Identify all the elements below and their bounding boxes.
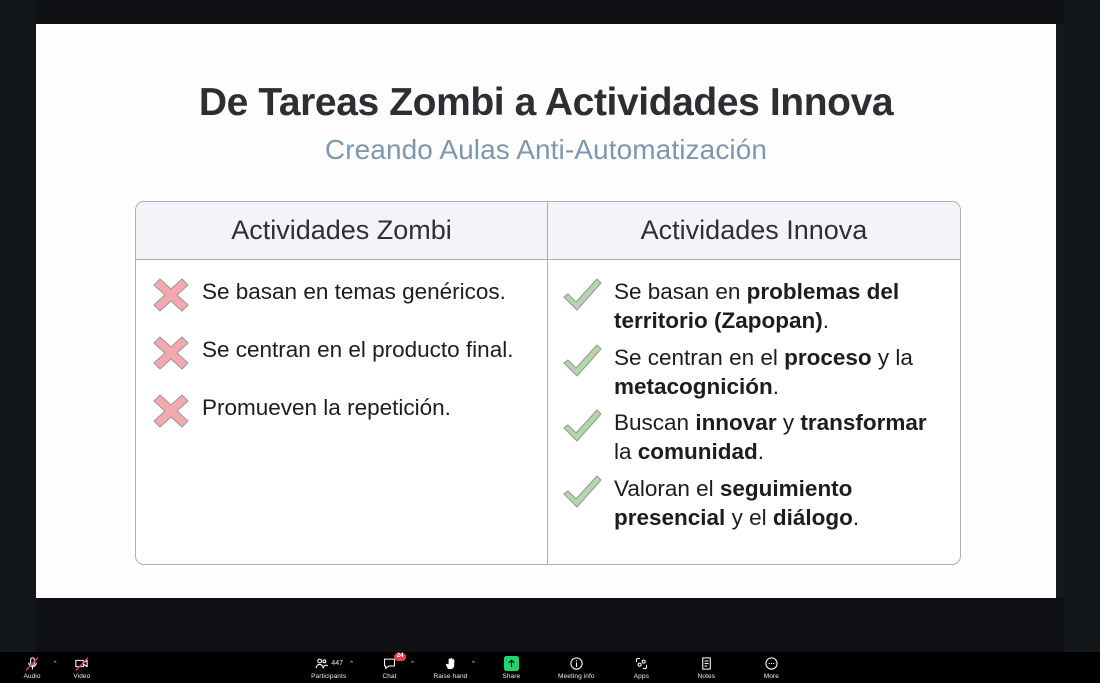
bullet-list-zombi: Se basan en temas genéricos.Se centran e… [150,274,537,428]
letterbox-top [36,0,1064,24]
toolbar-group-chat: 24Chat⌃ [364,656,412,680]
toolbar-label-meeting-info: Meeting info [558,673,595,680]
toolbar-group-more: More [745,656,797,680]
toolbar-label-chat: Chat [382,673,396,680]
notes-icon [699,656,714,672]
x-mark-icon [150,274,192,312]
toolbar-center-controls: 447Participants⌃24Chat⌃Raise hand⌃ShareM… [0,656,1100,680]
comparison-table: Actividades Zombi Actividades Innova Se … [135,201,961,565]
column-cell-zombi: Se basan en temas genéricos.Se centran e… [136,260,548,564]
toolbar-label-apps: Apps [634,673,649,680]
check-mark-icon [562,471,604,509]
slide-subtitle: Creando Aulas Anti-Automatización [36,134,1056,166]
column-header-innova: Actividades Innova [548,202,960,259]
toolbar-button-apps[interactable]: Apps [615,656,667,680]
bullet-text: Se centran en el producto final. [202,332,513,364]
chevron-up-icon-participants[interactable]: ⌃ [349,660,355,668]
bullet-item: Se centran en el proceso y la metacognic… [562,340,950,402]
toolbar-group-notes: Notes [680,656,732,680]
share-screen-icon [504,656,519,672]
toolbar-button-notes[interactable]: Notes [680,656,732,680]
toolbar-button-meeting-info[interactable]: Meeting info [550,656,602,680]
toolbar-group-apps: Apps [615,656,667,680]
bullet-item: Promueven la repetición. [150,390,537,428]
bullet-item: Se basan en problemas del territorio (Za… [562,274,950,336]
toolbar-label-participants: Participants [311,673,346,680]
toolbar-button-participants[interactable]: 447Participants [303,656,355,680]
toolbar-group-raise-hand: Raise hand⌃ [424,656,472,680]
raise-hand-icon [443,656,458,672]
column-header-zombi: Actividades Zombi [136,202,548,259]
toolbar-label-more: More [764,673,779,680]
zoom-meeting-toolbar: Audio⌃Video 447Participants⌃24Chat⌃Raise… [0,652,1100,683]
bullet-text: Se centran en el proceso y la metacognic… [614,340,950,402]
letterbox-bottom [36,598,1064,652]
toolbar-group-participants: 447Participants⌃ [303,656,351,680]
presentation-slide: De Tareas Zombi a Actividades Innova Cre… [36,24,1056,598]
check-mark-icon [562,340,604,378]
letterbox-left [0,0,36,652]
letterbox-right [1064,0,1100,652]
apps-icon [634,656,649,672]
screen-share-stage: De Tareas Zombi a Actividades Innova Cre… [0,0,1100,652]
toolbar-group-share: Share [485,656,537,680]
chat-unread-badge: 24 [394,653,406,662]
bullet-text: Se basan en temas genéricos. [202,274,506,306]
toolbar-button-more[interactable]: More [745,656,797,680]
toolbar-button-raise-hand[interactable]: Raise hand [424,656,476,680]
bullet-text: Valoran el seguimiento presencial y el d… [614,471,950,533]
x-mark-icon [150,390,192,428]
toolbar-button-chat[interactable]: 24Chat [364,656,416,680]
toolbar-label-share: Share [502,673,520,680]
bullet-text: Buscan innovar y transformar la comunida… [614,405,950,467]
toolbar-label-raise-hand: Raise hand [433,673,467,680]
bullet-text: Promueven la repetición. [202,390,451,422]
chevron-up-icon-raise-hand[interactable]: ⌃ [470,660,476,668]
bullet-list-innova: Se basan en problemas del territorio (Za… [562,274,950,532]
column-cell-innova: Se basan en problemas del territorio (Za… [548,260,960,564]
chat-icon: 24 [382,656,397,672]
participants-count: 447 [331,660,343,667]
bullet-text: Se basan en problemas del territorio (Za… [614,274,950,336]
toolbar-button-share[interactable]: Share [485,656,537,680]
table-header-row: Actividades Zombi Actividades Innova [136,202,960,260]
chevron-up-icon-chat[interactable]: ⌃ [410,660,416,668]
slide-title: De Tareas Zombi a Actividades Innova [36,81,1056,125]
bullet-item: Valoran el seguimiento presencial y el d… [562,471,950,533]
info-circle-icon [569,656,584,672]
more-ellipsis-icon [764,656,779,672]
bullet-item: Se basan en temas genéricos. [150,274,537,312]
bullet-item: Buscan innovar y transformar la comunida… [562,405,950,467]
x-mark-icon [150,332,192,370]
toolbar-group-meeting-info: Meeting info [550,656,602,680]
table-body-row: Se basan en temas genéricos.Se centran e… [136,260,960,564]
check-mark-icon [562,274,604,312]
bullet-item: Se centran en el producto final. [150,332,537,370]
check-mark-icon [562,405,604,443]
participants-icon: 447 [314,656,343,672]
toolbar-label-notes: Notes [698,673,715,680]
